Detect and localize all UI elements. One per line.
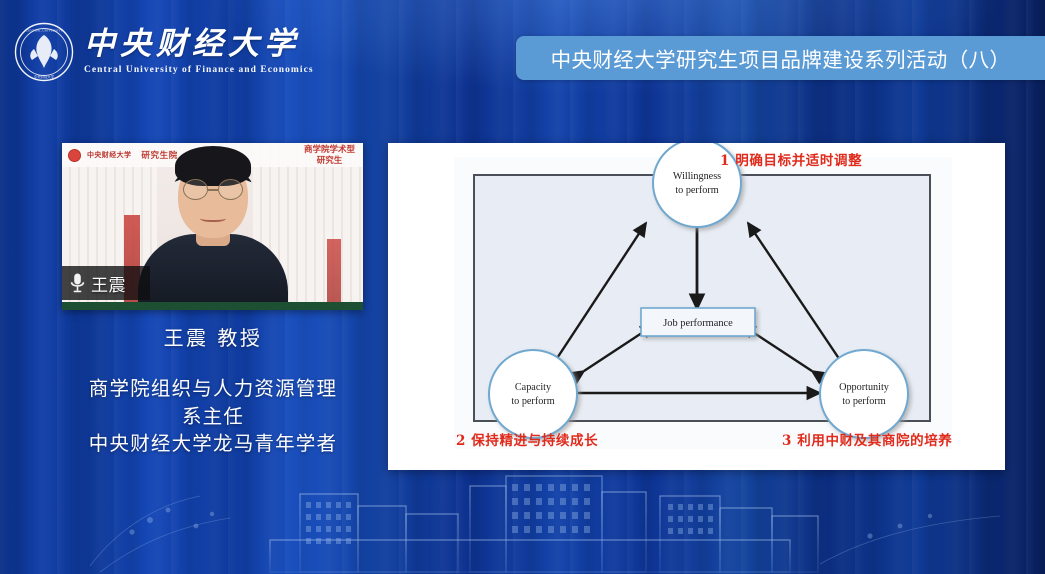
backdrop-program-line2: 研究生 [304, 156, 355, 167]
speaker-info: 王震 教授 商学院组织与人力资源管理 系主任 中央财经大学龙马青年学者 [30, 322, 396, 458]
svg-text:中央财经大学: 中央财经大学 [34, 74, 55, 79]
capacity-label-line1: Capacity [515, 382, 552, 393]
backdrop-program-text: 商学院学术型 研究生 [304, 145, 355, 166]
logo-english-name: Central University of Finance and Econom… [84, 66, 314, 76]
video-bottom-strip [62, 302, 363, 310]
speaker-role-line1: 商学院组织与人力资源管理 [30, 375, 396, 403]
willingness-label-line2: to perform [675, 185, 718, 196]
participant-name: 王震 [91, 271, 126, 296]
presentation-stage: CENTRAL UNIVERSITY 中央财经大学 中央财经大学 Central… [0, 0, 1045, 574]
backdrop-program-line1: 商学院学术型 [304, 145, 355, 156]
event-title-banner: 中央财经大学研究生项目品牌建设系列活动（八） [516, 36, 1045, 80]
campus-building-silhouette-icon [0, 456, 1045, 574]
backdrop-graduate-school-text: 研究生院 [141, 149, 177, 161]
backdrop-university-text: 中央财经大学 [87, 150, 131, 160]
microphone-icon [69, 272, 86, 294]
speaker-role-line3: 中央财经大学龙马青年学者 [30, 430, 396, 458]
university-seal-icon: CENTRAL UNIVERSITY 中央财经大学 [14, 22, 74, 82]
svg-text:CENTRAL UNIVERSITY: CENTRAL UNIVERSITY [26, 29, 63, 33]
shared-slide[interactable]: Job performance Willingness to perform C… [388, 143, 1005, 470]
participant-name-badge: 王震 [62, 266, 150, 300]
backdrop-seal-icon [68, 149, 81, 162]
speaker-video-tile[interactable]: 中央财经大学 研究生院 商学院学术型 研究生 王震 [62, 143, 363, 310]
performance-model-diagram: Job performance Willingness to perform C… [388, 143, 1005, 470]
backdrop-red-panel-right [327, 239, 341, 310]
annotation-bottom-right: 3 利用中财及其商院的培养 [782, 432, 952, 449]
speaker-figure [143, 166, 283, 306]
willingness-label-line1: Willingness [673, 171, 721, 182]
speaker-role: 商学院组织与人力资源管理 系主任 中央财经大学龙马青年学者 [30, 375, 396, 458]
capacity-label-line2: to perform [511, 396, 554, 407]
annotation-bottom-left: 2 保持精进与持续成长 [456, 432, 598, 449]
opportunity-label-line2: to perform [842, 396, 885, 407]
event-title-text: 中央财经大学研究生项目品牌建设系列活动（八） [551, 43, 1011, 73]
job-performance-label: Job performance [663, 318, 733, 329]
university-logo: CENTRAL UNIVERSITY 中央财经大学 中央财经大学 Central… [14, 22, 314, 82]
speaker-name-title: 王震 教授 [30, 322, 396, 351]
logo-chinese-name: 中央财经大学 [84, 29, 314, 60]
annotation-top: 1 明确目标并适时调整 [720, 152, 862, 169]
opportunity-label-line1: Opportunity [839, 382, 890, 393]
speaker-role-line2: 系主任 [30, 403, 396, 431]
